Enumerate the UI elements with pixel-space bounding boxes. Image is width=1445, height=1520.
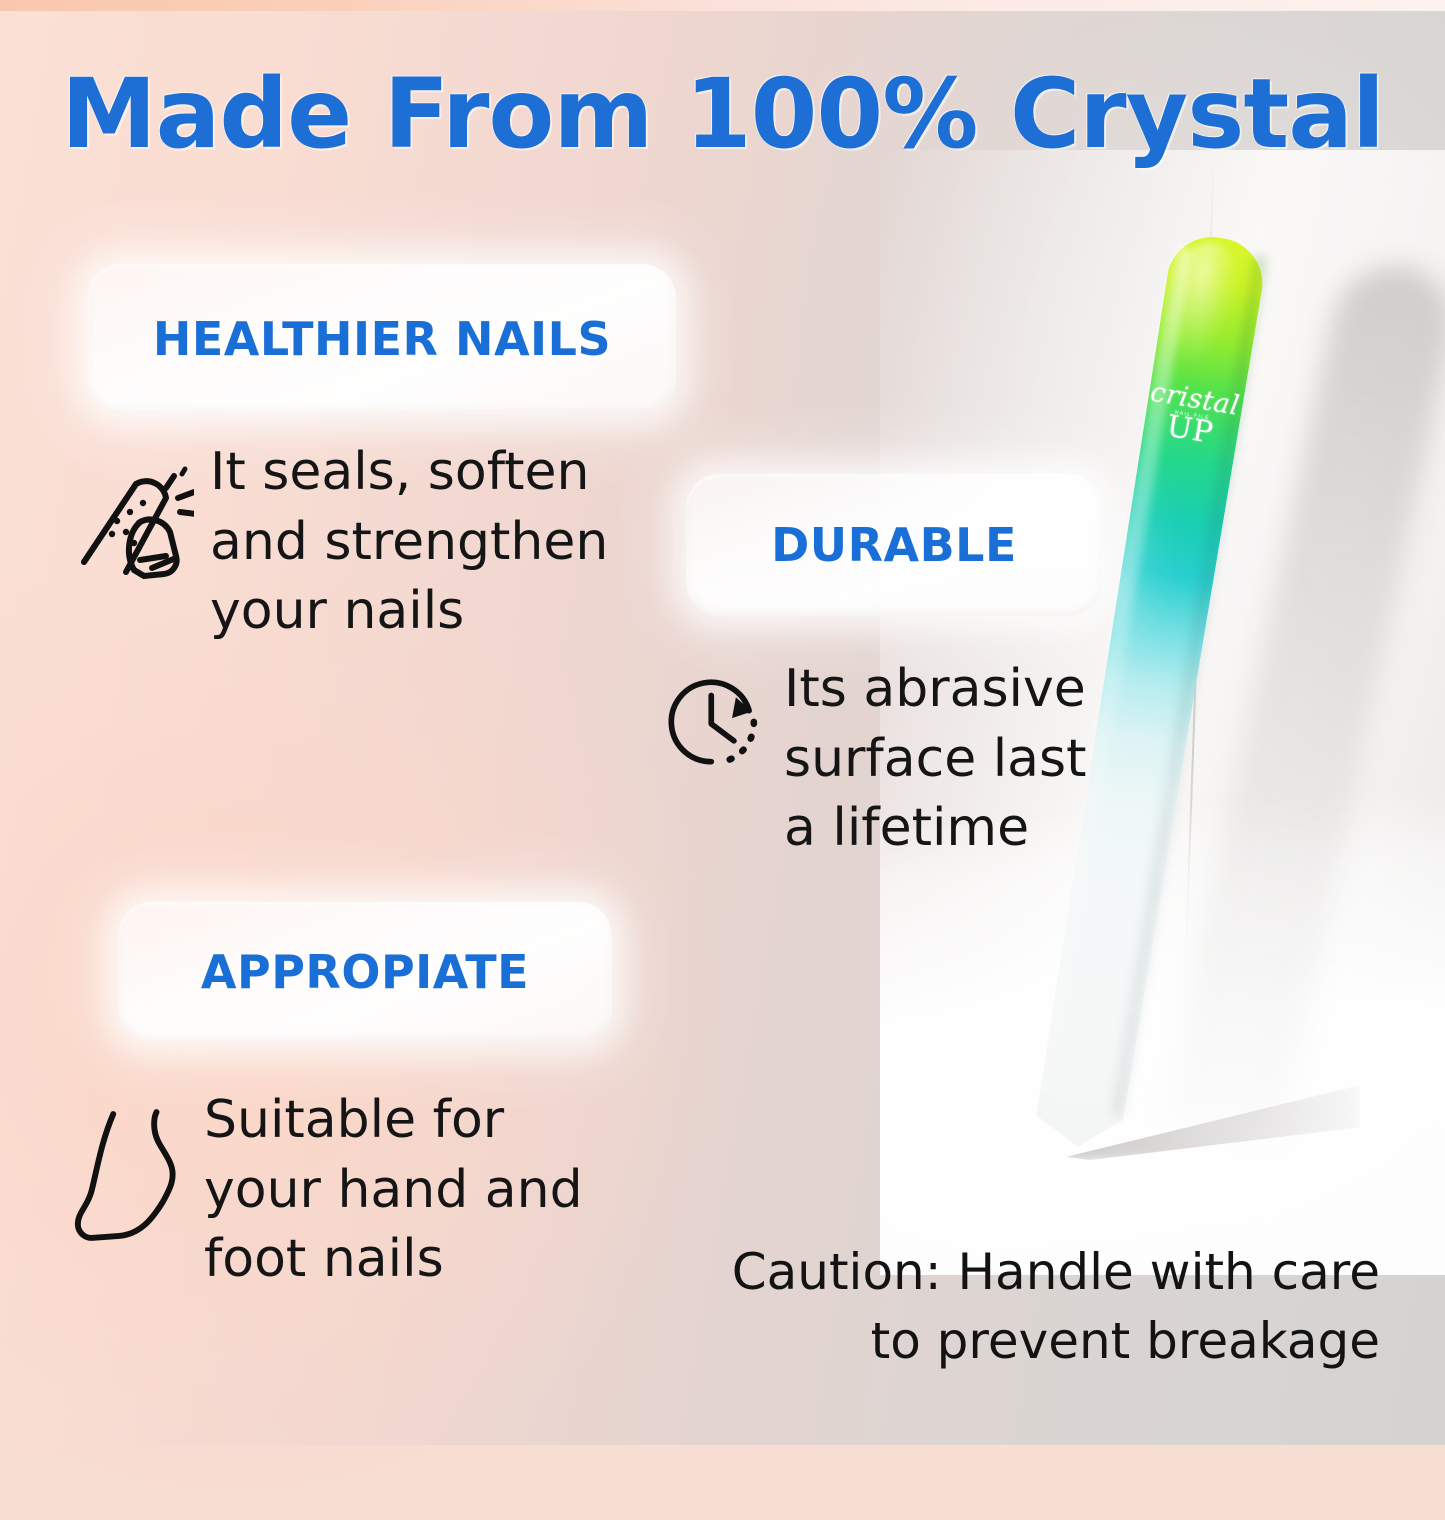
caution-line-1: Caution: Handle with care [660,1238,1380,1307]
feature-appropiate: Suitable for your hand and foot nails [68,1086,604,1295]
top-accent-strip [0,0,1445,11]
foot-icon [68,1102,194,1255]
clock-arrow-icon [664,669,776,778]
feature-healthier-nails: It seals, soften and strengthen your nai… [74,438,634,647]
nail-file-icon [74,450,202,585]
badge-appropiate-label: APPROPIATE [201,945,529,999]
badge-durable[interactable]: DURABLE [686,474,1102,616]
badge-appropiate[interactable]: APPROPIATE [118,902,612,1042]
badge-durable-label: DURABLE [771,518,1017,572]
page-title-part2: 100% Crystal [685,58,1384,170]
caution-line-2: to prevent breakage [660,1307,1380,1376]
caution-note: Caution: Handle with care to prevent bre… [660,1238,1380,1376]
feature-durable-text: Its abrasive surface last a lifetime [784,655,1102,864]
badge-healthier-nails-label: HEALTHIER NAILS [153,312,611,366]
page-title: Made From 100% Crystal [0,58,1445,170]
feature-durable: Its abrasive surface last a lifetime [664,655,1102,864]
feature-appropiate-text: Suitable for your hand and foot nails [204,1086,604,1295]
page-title-part1: Made From [61,58,685,170]
feature-healthier-nails-text: It seals, soften and strengthen your nai… [210,438,634,647]
badge-healthier-nails[interactable]: HEALTHIER NAILS [88,264,676,414]
